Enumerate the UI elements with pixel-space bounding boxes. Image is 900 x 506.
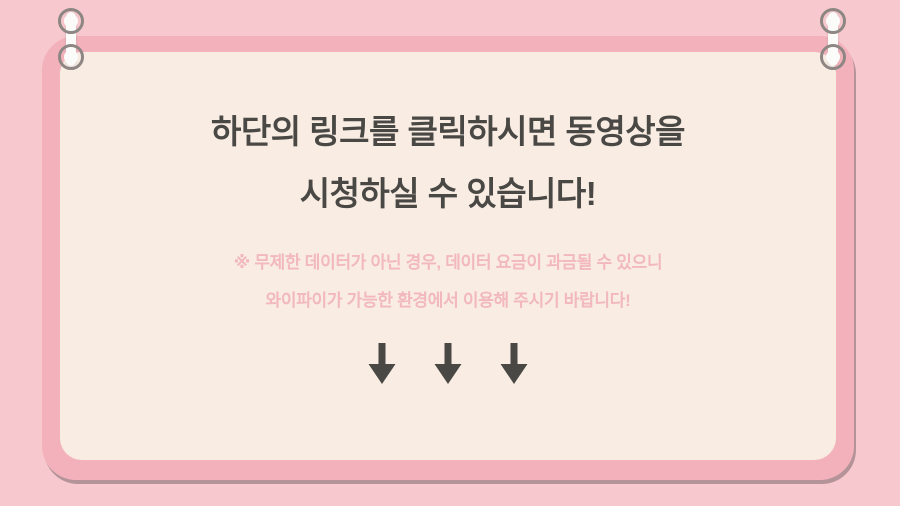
notice-line-1: ※ 무제한 데이터가 아닌 경우, 데이터 요금이 과금될 수 있으니 (234, 254, 663, 271)
pin-eyelet-bottom-icon (58, 44, 84, 70)
headline-line-2: 시청하실 수 있습니다! (300, 177, 597, 210)
card-inner-panel: 하단의 링크를 클릭하시면 동영상을 시청하실 수 있습니다! ※ 무제한 데이… (60, 52, 836, 460)
pin-eyelet-top-icon (820, 8, 846, 34)
arrow-row (367, 343, 529, 385)
headline-line-1: 하단의 링크를 클릭하시면 동영상을 (211, 115, 685, 148)
binder-pin-left (58, 8, 84, 70)
arrow-down-icon (433, 343, 463, 385)
arrow-down-icon (367, 343, 397, 385)
pin-eyelet-top-icon (58, 8, 84, 34)
binder-pin-right (820, 8, 846, 70)
pin-eyelet-bottom-icon (820, 44, 846, 70)
notice-line-2: 와이파이가 가능한 환경에서 이용해 주시기 바랍니다! (266, 292, 631, 309)
notice-card-stage: 하단의 링크를 클릭하시면 동영상을 시청하실 수 있습니다! ※ 무제한 데이… (0, 0, 900, 506)
arrow-down-icon (499, 343, 529, 385)
card-content: 하단의 링크를 클릭하시면 동영상을 시청하실 수 있습니다! ※ 무제한 데이… (60, 52, 836, 460)
